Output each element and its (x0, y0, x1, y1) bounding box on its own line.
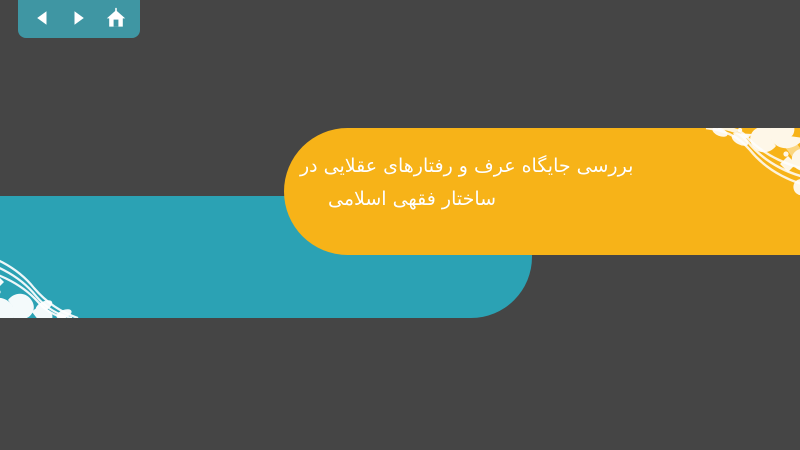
orange-arabesque-ornament (614, 128, 800, 255)
back-icon[interactable] (29, 5, 55, 31)
navigation-toolbar[interactable] (18, 0, 140, 38)
teal-arabesque-ornament (0, 196, 130, 318)
home-icon[interactable] (103, 5, 129, 31)
slide-canvas: بررسی جایگاه عرف و رفتارهای عقلایی در سا… (0, 0, 800, 450)
orange-title-banner (284, 128, 800, 255)
forward-icon[interactable] (66, 5, 92, 31)
